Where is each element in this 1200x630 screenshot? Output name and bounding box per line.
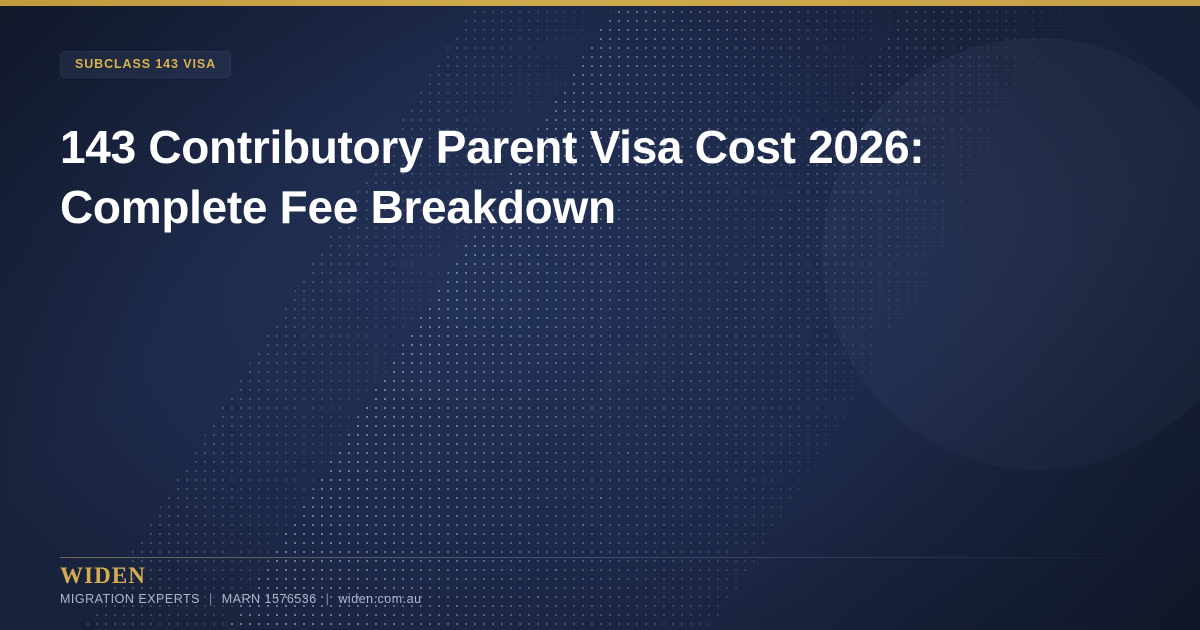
card-content: SUBCLASS 143 VISA 143 Contributory Paren… bbox=[0, 0, 1200, 630]
footer-registration: MARN 1576536 bbox=[222, 592, 317, 606]
brand-wordmark: WIDEN bbox=[60, 562, 146, 591]
social-share-card: SUBCLASS 143 VISA 143 Contributory Paren… bbox=[0, 0, 1200, 630]
footer-meta: MIGRATION EXPERTS | MARN 1576536 | widen… bbox=[60, 591, 422, 607]
footer-separator-2: | bbox=[321, 592, 335, 606]
subclass-badge: SUBCLASS 143 VISA bbox=[60, 51, 231, 78]
subclass-badge-label: SUBCLASS 143 VISA bbox=[75, 58, 216, 71]
footer-separator-1: | bbox=[204, 592, 218, 606]
footer-website: widen.com.au bbox=[338, 592, 421, 606]
footer-tagline: MIGRATION EXPERTS bbox=[60, 592, 200, 606]
page-title: 143 Contributory Parent Visa Cost 2026: … bbox=[60, 118, 1135, 238]
footer-divider bbox=[60, 557, 1143, 558]
